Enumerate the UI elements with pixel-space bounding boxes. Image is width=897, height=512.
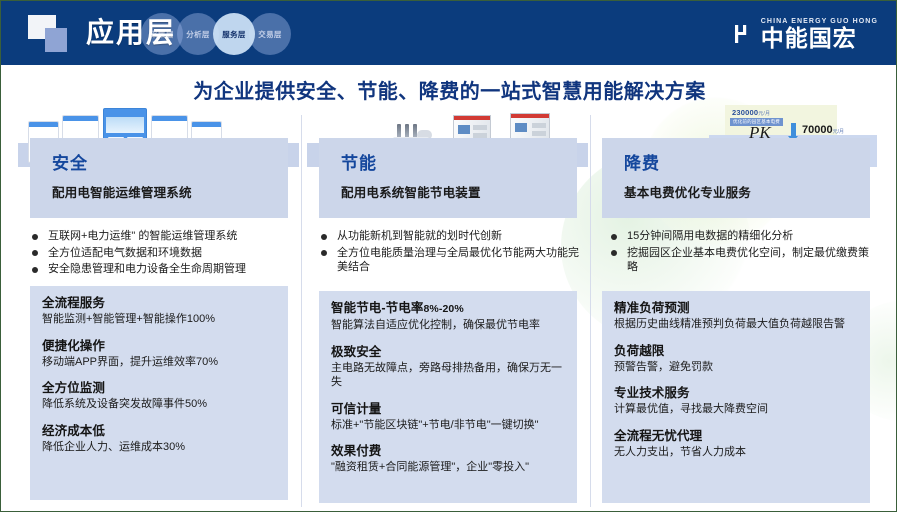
feature-item: 专业技术服务 计算最优值，寻找最大降费空间 <box>614 385 858 417</box>
brand-logo: CHINA ENERGY GUO HONG 中能国宏 <box>720 15 878 53</box>
bullet-item: 安全隐患管理和电力设备全生命周期管理 <box>26 262 298 277</box>
column-cost-bullets: 15分钟间隔用电数据的精细化分析 挖掘园区企业基本电费优化空间，制定最优缴费策略 <box>605 229 877 277</box>
column-safety-subtitle: 配用电智能运维管理系统 <box>52 182 192 201</box>
bullet-item: 从功能新机到智能就的划时代创新 <box>315 229 587 244</box>
feature-title: 全方位监测 <box>42 380 276 396</box>
pk-saving-value: 70000元/月 <box>802 124 844 136</box>
feature-title: 精准负荷预测 <box>614 300 858 316</box>
brand-chinese-name: 中能国宏 <box>761 26 878 50</box>
feature-title: 智能节电-节电率8%-20% <box>331 300 565 317</box>
feature-title: 极致安全 <box>331 344 565 360</box>
column-energy-subtitle: 配用电系统智能节电装置 <box>341 182 481 201</box>
feature-item: 效果付费 "融资租赁+合同能源管理"，企业"零投入" <box>331 443 565 475</box>
column-energy-kind: 节能 <box>341 149 377 174</box>
logo-square-blue <box>45 28 67 52</box>
feature-title-rate: 8%-20% <box>423 303 463 315</box>
column-safety-header-panel: 安全 配用电智能运维管理系统 <box>30 138 288 218</box>
feature-item: 全流程无忧代理 无人力支出，节省人力成本 <box>614 428 858 460</box>
feature-desc: 预警告警，避免罚款 <box>614 360 858 375</box>
feature-desc: 根据历史曲线精准预判负荷最大值负荷越限告警 <box>614 317 858 332</box>
feature-title-main: 智能节电-节电率 <box>331 301 423 315</box>
layer-circle-trade-label: 交易层 <box>258 29 281 40</box>
feature-item: 全流程服务 智能监测+智能管理+智能操作100% <box>42 295 276 327</box>
feature-desc: 降低企业人力、运维成本30% <box>42 440 276 455</box>
feature-title: 全流程无忧代理 <box>614 428 858 444</box>
header-bar: 采集层 分析层 服务层 交易层 应用层 <box>1 1 897 65</box>
column-cost-kind: 降费 <box>624 149 660 174</box>
column-cost-header-panel: 降费 基本电费优化专业服务 <box>602 138 870 218</box>
bullet-item: 全方位电能质量治理与全局最优化节能两大功能完美结合 <box>315 246 587 275</box>
bullet-item: 互联网+电力运维" 的智能运维管理系统 <box>26 229 298 244</box>
layer-circle-service-label: 服务层 <box>222 29 245 40</box>
layer-circle-trade[interactable]: 交易层 <box>249 13 291 55</box>
brand-mark-icon <box>720 17 754 51</box>
pk-saving-unit: 元/月 <box>833 129 844 135</box>
column-cost-body-panel: 精准负荷预测 根据历史曲线精准预判负荷最大值负荷越限告警 负荷越限 预警告警，避… <box>602 291 870 503</box>
brand-english-name: CHINA ENERGY GUO HONG <box>761 18 878 25</box>
column-safety-body-panel: 全流程服务 智能监测+智能管理+智能操作100% 便捷化操作 移动端APP界面，… <box>30 286 288 500</box>
feature-title: 可信计量 <box>331 401 565 417</box>
bullet-item: 15分钟间隔用电数据的精细化分析 <box>605 229 877 244</box>
feature-desc: 计算最优值，寻找最大降费空间 <box>614 402 858 417</box>
logo-squares-icon <box>28 15 78 55</box>
column-divider-1 <box>301 115 302 507</box>
column-energy-body-panel: 智能节电-节电率8%-20% 智能算法自适应优化控制，确保最优节电率 极致安全 … <box>319 291 577 503</box>
feature-item: 便捷化操作 移动端APP界面，提升运维效率70% <box>42 338 276 370</box>
feature-desc: 主电路无故障点，旁路母排热备用，确保万无一失 <box>331 361 565 390</box>
feature-title: 经济成本低 <box>42 423 276 439</box>
column-energy-saving: 节能 配用电系统智能节电装置 从功能新机到智能就的划时代创新 全方位电能质量治理… <box>307 105 588 512</box>
column-safety: 安全 配用电智能运维管理系统 互联网+电力运维" 的智能运维管理系统 全方位适配… <box>18 105 299 512</box>
brand-text: CHINA ENERGY GUO HONG 中能国宏 <box>761 18 878 50</box>
feature-desc: 降低系统及设备突发故障事件50% <box>42 397 276 412</box>
feature-desc: 智能监测+智能管理+智能操作100% <box>42 312 276 327</box>
down-arrow-icon <box>791 123 796 136</box>
feature-title: 效果付费 <box>331 443 565 459</box>
pk-top-value: 230000元/月 <box>732 108 770 117</box>
feature-desc: 标准+"节能区块链"+节电/非节电"一键切换" <box>331 418 565 433</box>
feature-desc: 智能算法自适应优化控制，确保最优节电率 <box>331 318 565 333</box>
layer-circle-service[interactable]: 服务层 <box>213 13 255 55</box>
bullet-item: 全方位适配电气数据和环境数据 <box>26 246 298 261</box>
column-cost-reduction: 230000元/月 优化前的园区基本电费 PK 70000元/月 160000元… <box>597 105 878 512</box>
column-safety-kind: 安全 <box>52 149 88 174</box>
feature-title: 负荷越限 <box>614 343 858 359</box>
bullet-item: 挖掘园区企业基本电费优化空间，制定最优缴费策略 <box>605 246 877 275</box>
pk-saving-number: 70000 <box>802 124 833 136</box>
feature-desc: 移动端APP界面，提升运维效率70% <box>42 355 276 370</box>
feature-desc: "融资租赁+合同能源管理"，企业"零投入" <box>331 460 565 475</box>
column-energy-bullets: 从功能新机到智能就的划时代创新 全方位电能质量治理与全局最优化节能两大功能完美结… <box>315 229 587 277</box>
column-safety-bullets: 互联网+电力运维" 的智能运维管理系统 全方位适配电气数据和环境数据 安全隐患管… <box>26 229 298 279</box>
columns-container: 安全 配用电智能运维管理系统 互联网+电力运维" 的智能运维管理系统 全方位适配… <box>1 105 897 512</box>
column-energy-header-panel: 节能 配用电系统智能节电装置 <box>319 138 577 218</box>
column-divider-2 <box>590 115 591 507</box>
pk-top-number: 230000 <box>732 108 758 117</box>
layer-circle-analysis-label: 分析层 <box>186 29 209 40</box>
feature-title: 全流程服务 <box>42 295 276 311</box>
feature-item: 极致安全 主电路无故障点，旁路母排热备用，确保万无一失 <box>331 344 565 390</box>
feature-title: 专业技术服务 <box>614 385 858 401</box>
feature-item: 智能节电-节电率8%-20% 智能算法自适应优化控制，确保最优节电率 <box>331 300 565 333</box>
feature-item: 精准负荷预测 根据历史曲线精准预判负荷最大值负荷越限告警 <box>614 300 858 332</box>
header-title: 应用层 <box>86 14 176 52</box>
feature-item: 全方位监测 降低系统及设备突发故障事件50% <box>42 380 276 412</box>
feature-item: 负荷越限 预警告警，避免罚款 <box>614 343 858 375</box>
feature-item: 经济成本低 降低企业人力、运维成本30% <box>42 423 276 455</box>
feature-desc: 无人力支出，节省人力成本 <box>614 445 858 460</box>
pk-top-unit: 元/月 <box>758 111 770 117</box>
feature-item: 可信计量 标准+"节能区块链"+节电/非节电"一键切换" <box>331 401 565 433</box>
slide-root: 采集层 分析层 服务层 交易层 应用层 <box>0 0 897 512</box>
page-title: 为企业提供安全、节能、降费的一站式智慧用能解决方案 <box>1 75 897 104</box>
feature-title: 便捷化操作 <box>42 338 276 354</box>
column-cost-subtitle: 基本电费优化专业服务 <box>624 182 751 201</box>
